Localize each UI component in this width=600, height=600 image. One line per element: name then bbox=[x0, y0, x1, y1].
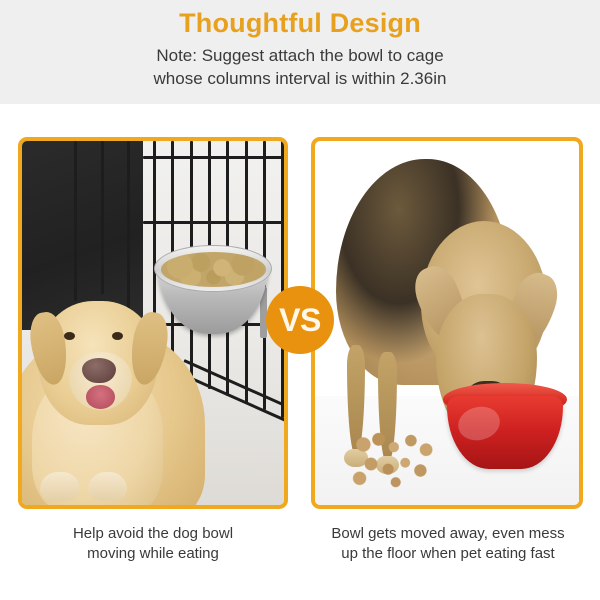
cage-door-frame-wire bbox=[101, 141, 104, 294]
cage-door-frame-wire bbox=[74, 141, 77, 301]
header-note-line-1: Note: Suggest attach the bowl to cage bbox=[0, 44, 600, 67]
caption-right: Bowl gets moved away, even mess up the f… bbox=[304, 524, 592, 564]
scene-dog-in-cage-with-fixed-bowl bbox=[22, 141, 284, 505]
comparison-panel-left bbox=[18, 137, 288, 509]
caption-left: Help avoid the dog bowl moving while eat… bbox=[10, 524, 296, 564]
golden-retriever-nose bbox=[82, 358, 116, 383]
page-title: Thoughtful Design bbox=[0, 8, 600, 39]
caption-left-line-1: Help avoid the dog bowl bbox=[10, 524, 296, 544]
golden-retriever-eye bbox=[64, 332, 75, 340]
vs-badge: VS bbox=[266, 286, 334, 354]
comparison-panel-right bbox=[311, 137, 583, 509]
header-note: Note: Suggest attach the bowl to cage wh… bbox=[0, 44, 600, 90]
header-note-line-2: whose columns interval is within 2.36in bbox=[0, 67, 600, 90]
spilled-kibble-on-floor bbox=[352, 425, 447, 491]
cage-wire-vertical bbox=[281, 141, 284, 418]
golden-retriever-paw bbox=[88, 472, 127, 501]
golden-retriever-tongue bbox=[86, 385, 115, 409]
kibble-in-stainless-bowl bbox=[161, 252, 266, 287]
cage-wire-horizontal bbox=[143, 221, 284, 224]
caption-left-line-2: moving while eating bbox=[10, 544, 296, 564]
scene-chihuahua-with-loose-bowl bbox=[315, 141, 579, 505]
caption-right-line-2: up the floor when pet eating fast bbox=[304, 544, 592, 564]
cage-wire-horizontal bbox=[143, 156, 284, 159]
caption-right-line-1: Bowl gets moved away, even mess bbox=[304, 524, 592, 544]
cage-door-frame-wire bbox=[127, 141, 130, 308]
golden-retriever-paw bbox=[40, 472, 79, 501]
